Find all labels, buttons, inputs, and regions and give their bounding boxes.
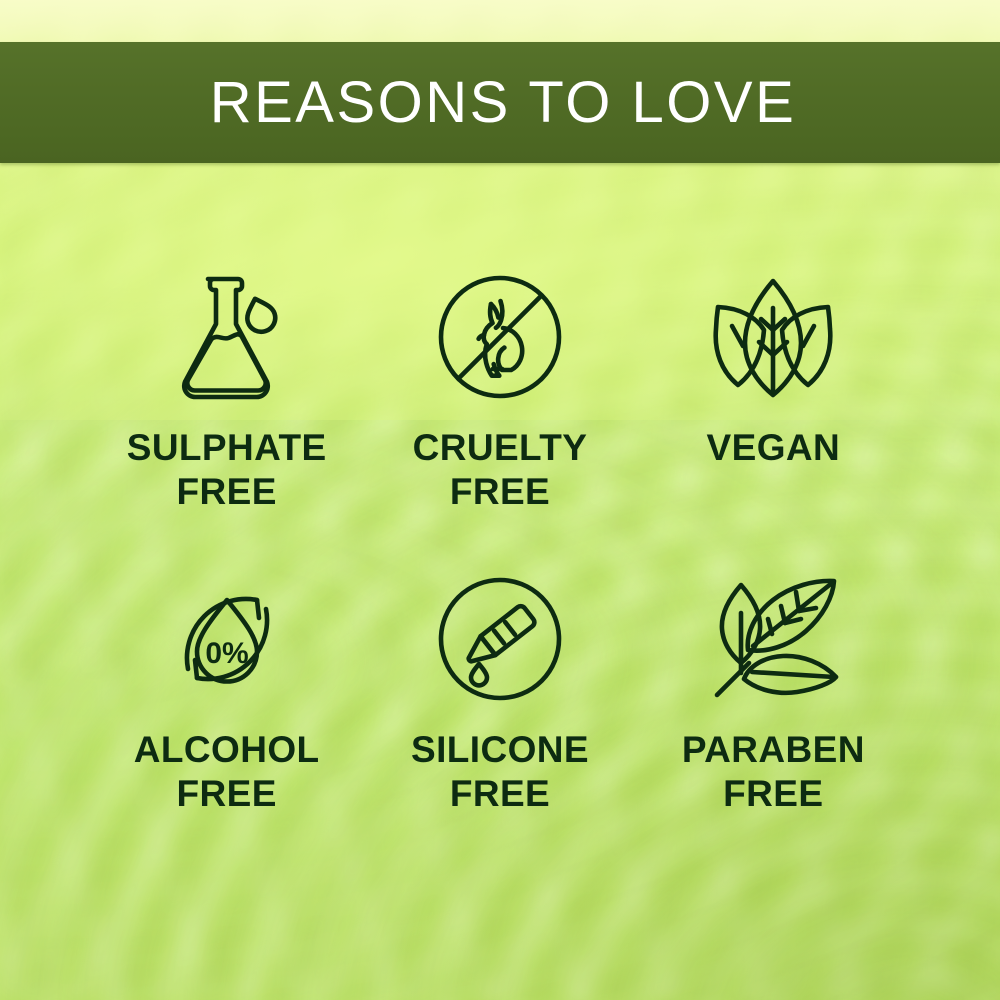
svg-text:0%: 0%: [205, 637, 248, 670]
badge-label: SILICONE FREE: [411, 728, 589, 815]
badge-label: ALCOHOL FREE: [134, 728, 320, 815]
badge-vegan: VEGAN: [637, 262, 910, 552]
header-banner: REASONS TO LOVE: [0, 42, 1000, 163]
badge-label: SULPHATE FREE: [127, 426, 327, 513]
reasons-to-love-poster: REASONS TO LOVE SULPHATE FREE: [0, 0, 1000, 1000]
flask-droplet-icon: [164, 262, 290, 412]
dropper-pipette-icon: [434, 564, 566, 714]
badge-cruelty-free: CRUELTY FREE: [363, 262, 636, 552]
no-animal-testing-icon: [434, 262, 566, 412]
zero-percent-droplet-icon: 0%: [161, 564, 293, 714]
claims-grid: SULPHATE FREE: [90, 262, 910, 854]
badge-label: PARABEN FREE: [682, 728, 865, 815]
leaf-branch-icon: [703, 564, 843, 714]
page-title: REASONS TO LOVE: [204, 74, 797, 132]
badge-sulphate-free: SULPHATE FREE: [90, 262, 363, 552]
badge-label: VEGAN: [707, 426, 841, 470]
badge-alcohol-free: 0% ALCOHOL FREE: [90, 564, 363, 854]
three-leaves-icon: [705, 262, 841, 412]
badge-paraben-free: PARABEN FREE: [637, 564, 910, 854]
badge-label: CRUELTY FREE: [413, 426, 588, 513]
badge-silicone-free: SILICONE FREE: [363, 564, 636, 854]
